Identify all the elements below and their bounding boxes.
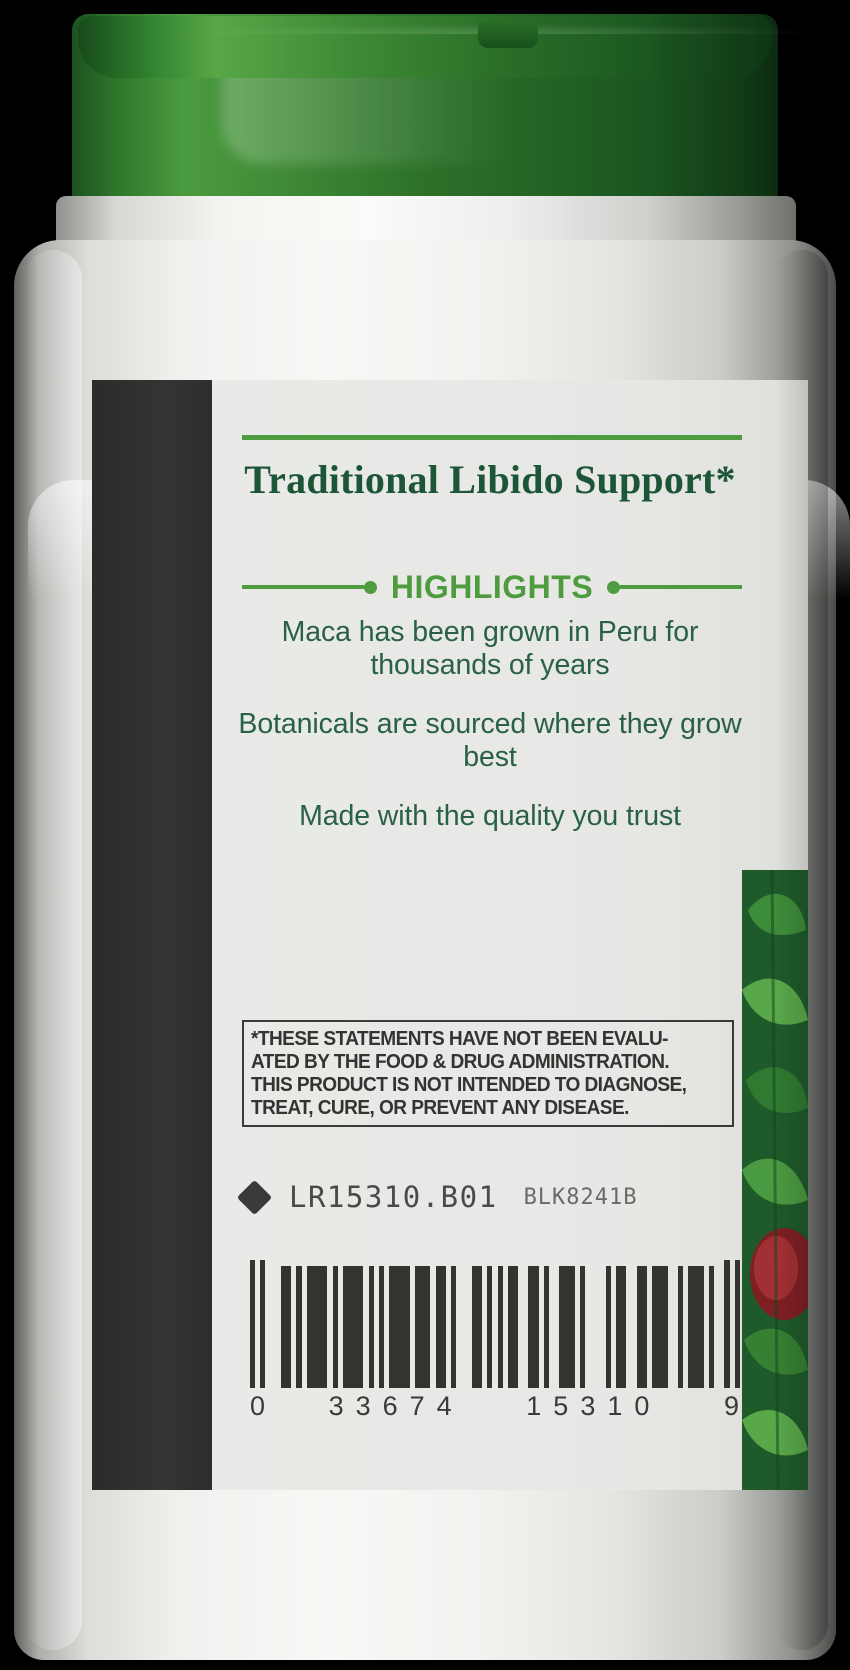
fda-disclaimer-box: *THESE STATEMENTS HAVE NOT BEEN EVALU- A… xyxy=(242,1020,734,1127)
print-code: BLK8241B xyxy=(524,1185,638,1210)
lot-code: LR15310.B01 xyxy=(289,1180,498,1214)
barcode-bars xyxy=(250,1260,740,1388)
product-photo: Traditional Libido Support* HIGHLIGHTS M… xyxy=(0,0,850,1670)
divider-dot-left xyxy=(364,581,377,594)
cap-tab xyxy=(478,22,538,48)
highlight-item: Maca has been grown in Peru for thousand… xyxy=(220,616,760,682)
highlight-item: Botanicals are sourced where they grow b… xyxy=(220,708,760,774)
cap-top-surface xyxy=(78,16,772,78)
barcode: 0 33674 15310 9 xyxy=(250,1260,740,1422)
top-rule xyxy=(242,435,742,440)
upc-group-two: 15310 xyxy=(526,1391,661,1422)
upc-left-digit: 0 xyxy=(250,1391,266,1422)
highlight-item: Made with the quality you trust xyxy=(220,800,760,833)
product-headline: Traditional Libido Support* xyxy=(220,458,760,501)
label-content: Traditional Libido Support* HIGHLIGHTS M… xyxy=(220,380,808,1490)
highlights-heading: HIGHLIGHTS xyxy=(377,569,607,606)
lot-code-row: LR15310.B01 BLK8241B xyxy=(242,1180,742,1214)
upc-right-digit: 9 xyxy=(724,1391,740,1422)
divider-line-left xyxy=(242,585,364,589)
divider-line-right xyxy=(620,585,742,589)
barcode-digits: 0 33674 15310 9 xyxy=(250,1391,740,1422)
bottle-highlight-left xyxy=(24,250,82,1650)
disclaimer-line: ATED BY THE FOOD & DRUG ADMINISTRATION. xyxy=(251,1050,692,1073)
highlights-divider: HIGHLIGHTS xyxy=(242,570,742,604)
disclaimer-line: THIS PRODUCT IS NOT INTENDED TO DIAGNOSE… xyxy=(251,1073,692,1096)
divider-dot-right xyxy=(607,581,620,594)
label-side-stripe xyxy=(92,380,212,1490)
bottle-shadow-right xyxy=(776,250,828,1650)
disclaimer-line: TREAT, CURE, OR PREVENT ANY DISEASE. xyxy=(251,1096,692,1119)
diamond-icon xyxy=(237,1179,272,1214)
product-label: Traditional Libido Support* HIGHLIGHTS M… xyxy=(92,380,808,1490)
disclaimer-line: *THESE STATEMENTS HAVE NOT BEEN EVALU- xyxy=(251,1027,692,1050)
highlights-list: Maca has been grown in Peru for thousand… xyxy=(220,616,760,859)
upc-group-one: 33674 xyxy=(329,1391,464,1422)
